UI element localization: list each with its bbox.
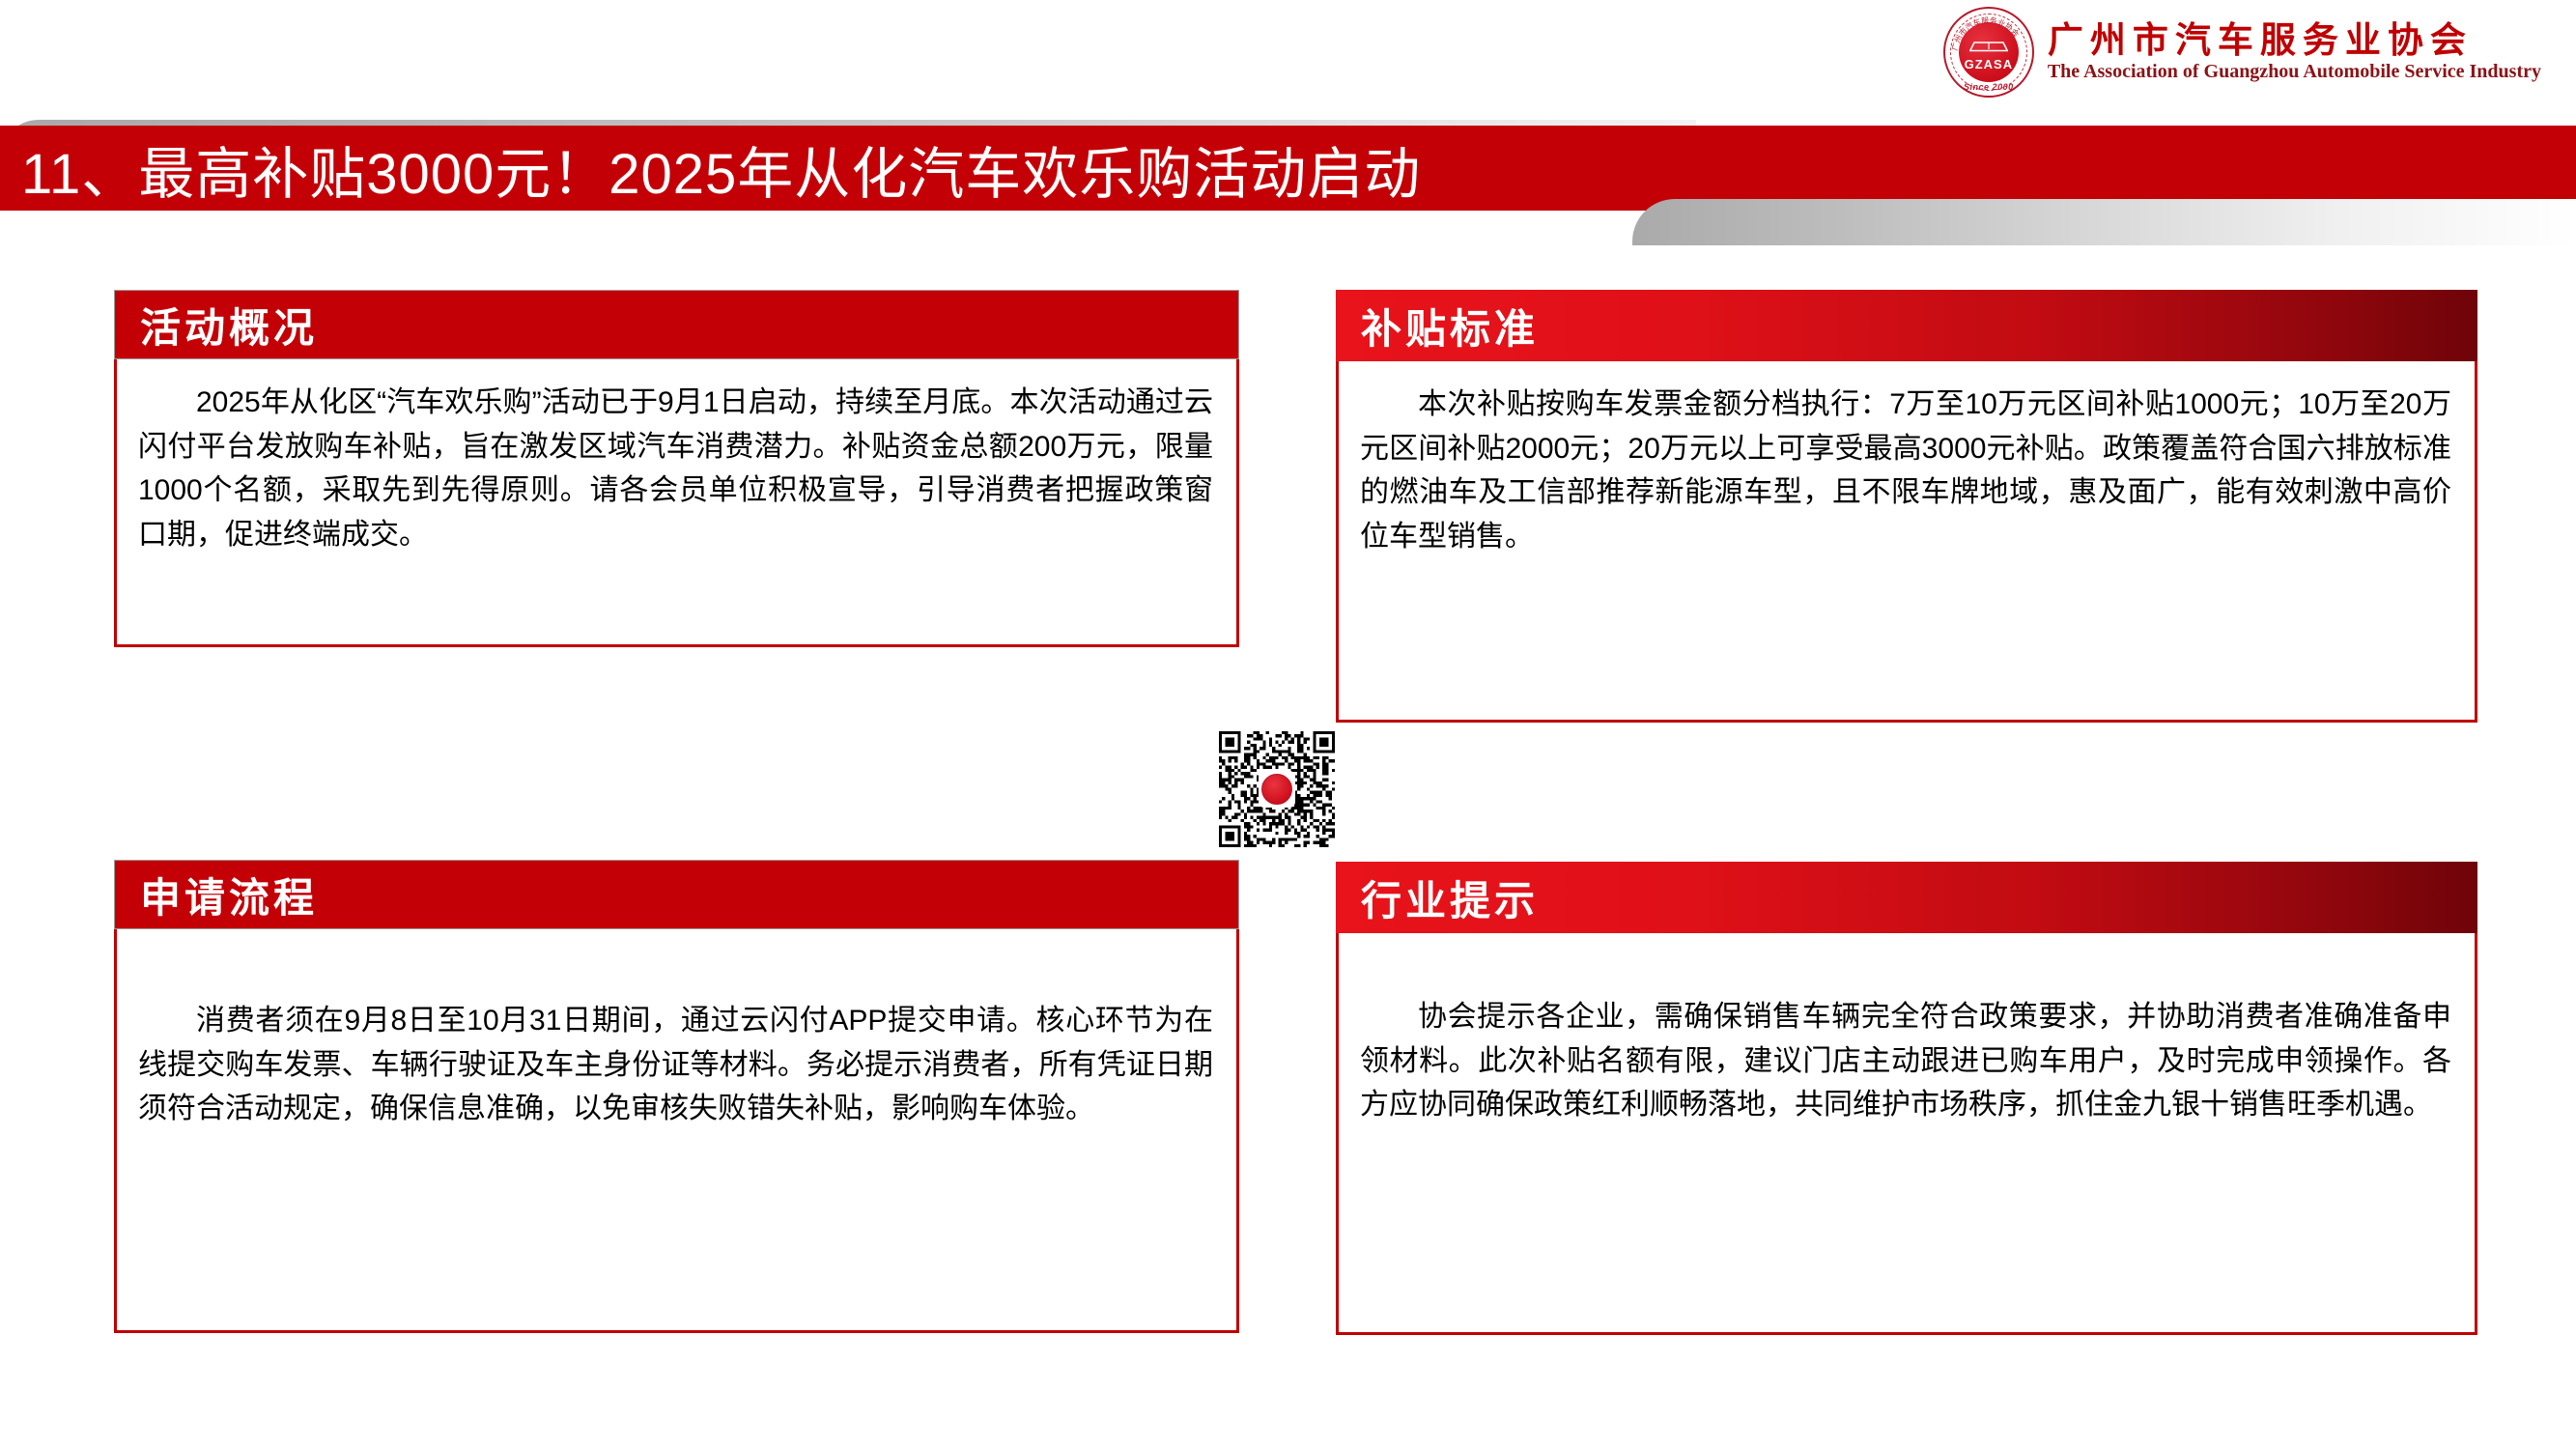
card-industry-notice-heading: 行业提示 (1336, 862, 2477, 933)
association-name-en: The Association of Guangzhou Automobile … (2048, 61, 2541, 82)
card-subsidy-standard: 补贴标准 本次补贴按购车发票金额分档执行：7万至10万元区间补贴1000元；10… (1336, 290, 2477, 723)
card-subsidy-standard-heading: 补贴标准 (1336, 290, 2477, 361)
card-application-process-body: 消费者须在9月8日至10月31日期间，通过云闪付APP提交申请。核心环节为在线提… (114, 929, 1239, 1333)
banner-gray-bottom-accent (1632, 199, 2576, 245)
card-activity-overview-heading: 活动概况 (114, 290, 1239, 359)
card-activity-overview-text: 2025年从化区“汽车欢乐购”活动已于9月1日启动，持续至月底。本次活动通过云闪… (138, 381, 1213, 556)
card-application-process: 申请流程 消费者须在9月8日至10月31日期间，通过云闪付APP提交申请。核心环… (114, 860, 1239, 1333)
card-industry-notice-text: 协会提示各企业，需确保销售车辆完全符合政策要求，并协助消费者准确准备申领材料。此… (1360, 995, 2451, 1127)
card-activity-overview-body: 2025年从化区“汽车欢乐购”活动已于9月1日启动，持续至月底。本次活动通过云闪… (114, 359, 1239, 647)
qr-center-logo-disc (1261, 774, 1292, 805)
emblem-since-text: Since 2000 (1945, 82, 2032, 92)
emblem-abbreviation: GZASA (1945, 57, 2032, 71)
qr-center-logo-icon (1259, 771, 1295, 808)
card-activity-overview: 活动概况 2025年从化区“汽车欢乐购”活动已于9月1日启动，持续至月底。本次活… (114, 290, 1239, 647)
qr-code[interactable] (1219, 731, 1335, 847)
card-application-process-text: 消费者须在9月8日至10月31日期间，通过云闪付APP提交申请。核心环节为在线提… (138, 999, 1213, 1131)
association-name-cn: 广州市汽车服务业协会 (2048, 22, 2541, 60)
page-title: 11、最高补贴3000元！2025年从化汽车欢乐购活动启动 (21, 131, 1421, 207)
card-industry-notice-body: 协会提示各企业，需确保销售车辆完全符合政策要求，并协助消费者准确准备申领材料。此… (1336, 933, 2477, 1335)
association-logo: 广州市汽车服务业协会 GZASA Since 2000 广州市汽车服务业协会 T… (1943, 8, 2541, 97)
car-icon (1967, 38, 2010, 54)
card-application-process-heading: 申请流程 (114, 860, 1239, 929)
logo-text-block: 广州市汽车服务业协会 The Association of Guangzhou … (2048, 22, 2541, 83)
card-industry-notice: 行业提示 协会提示各企业，需确保销售车辆完全符合政策要求，并协助消费者准确准备申… (1336, 862, 2477, 1335)
gzasa-emblem-icon: 广州市汽车服务业协会 GZASA Since 2000 (1943, 7, 2034, 98)
card-subsidy-standard-text: 本次补贴按购车发票金额分档执行：7万至10万元区间补贴1000元；10万至20万… (1360, 383, 2451, 558)
card-subsidy-standard-body: 本次补贴按购车发票金额分档执行：7万至10万元区间补贴1000元；10万至20万… (1336, 361, 2477, 723)
